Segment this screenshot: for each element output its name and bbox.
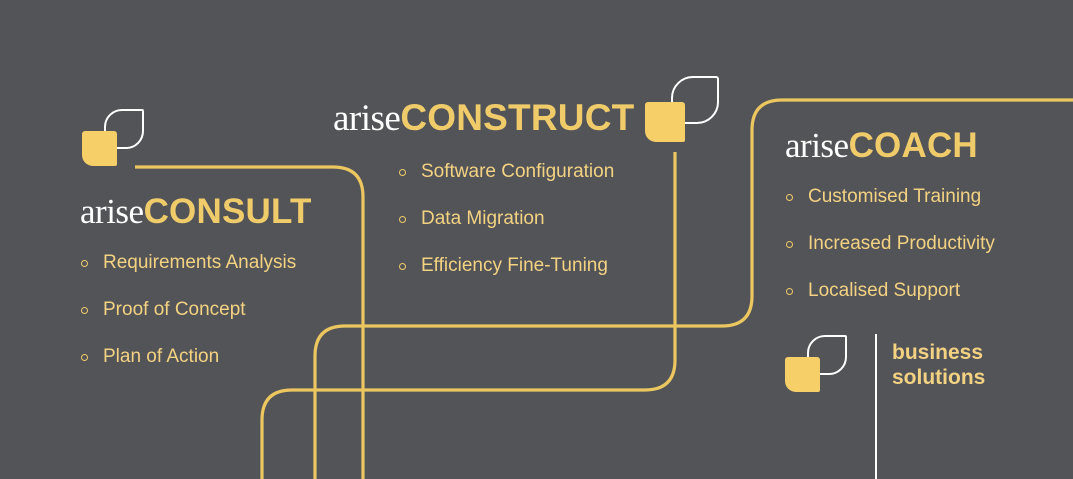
footer-tagline: business solutions	[892, 341, 985, 390]
footer-divider	[875, 334, 877, 479]
infographic-canvas: ariseCONSULT Requirements Analysis Proof…	[0, 0, 1073, 479]
business-solutions-block: business solutions	[0, 0, 1073, 479]
leaf-fill-icon	[785, 357, 820, 392]
